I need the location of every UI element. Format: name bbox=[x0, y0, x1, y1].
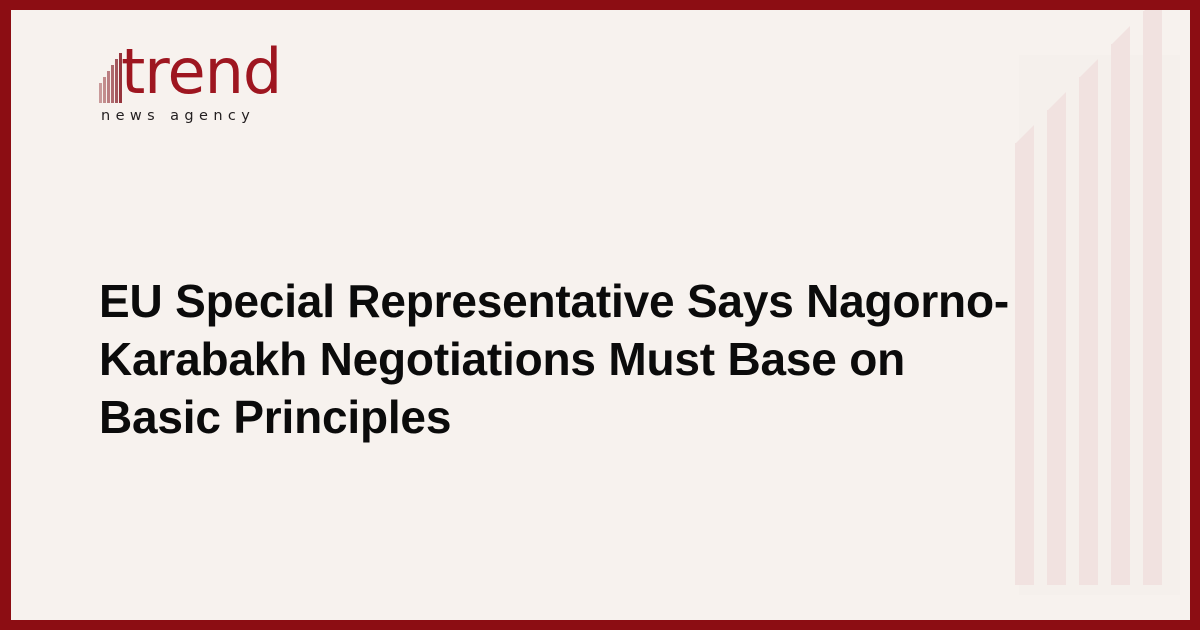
logo-bar-3 bbox=[107, 71, 110, 103]
logo-bar-5 bbox=[115, 59, 118, 103]
logo-bar-4 bbox=[111, 65, 114, 103]
decor-bar-3 bbox=[1079, 77, 1098, 585]
decor-bar-5 bbox=[1143, 11, 1162, 585]
logo-bar-1 bbox=[99, 83, 102, 103]
article-headline: EU Special Representative Says Nagorno-K… bbox=[99, 272, 1034, 446]
logo-wordmark: trend bbox=[121, 41, 281, 103]
trend-news-agency-logo[interactable]: trend news agency bbox=[99, 45, 279, 105]
logo-mark: trend bbox=[99, 45, 279, 105]
decorative-bar-chart-motif bbox=[1012, 10, 1190, 620]
decor-backdrop-plate bbox=[1019, 55, 1180, 595]
decor-bar-2 bbox=[1047, 110, 1066, 585]
decor-bar-4 bbox=[1111, 44, 1130, 585]
logo-tagline: news agency bbox=[101, 108, 255, 124]
logo-bar-2 bbox=[103, 77, 106, 103]
card-canvas: trend news agency EU Special Representat… bbox=[11, 10, 1190, 620]
share-card: trend news agency EU Special Representat… bbox=[0, 0, 1200, 630]
